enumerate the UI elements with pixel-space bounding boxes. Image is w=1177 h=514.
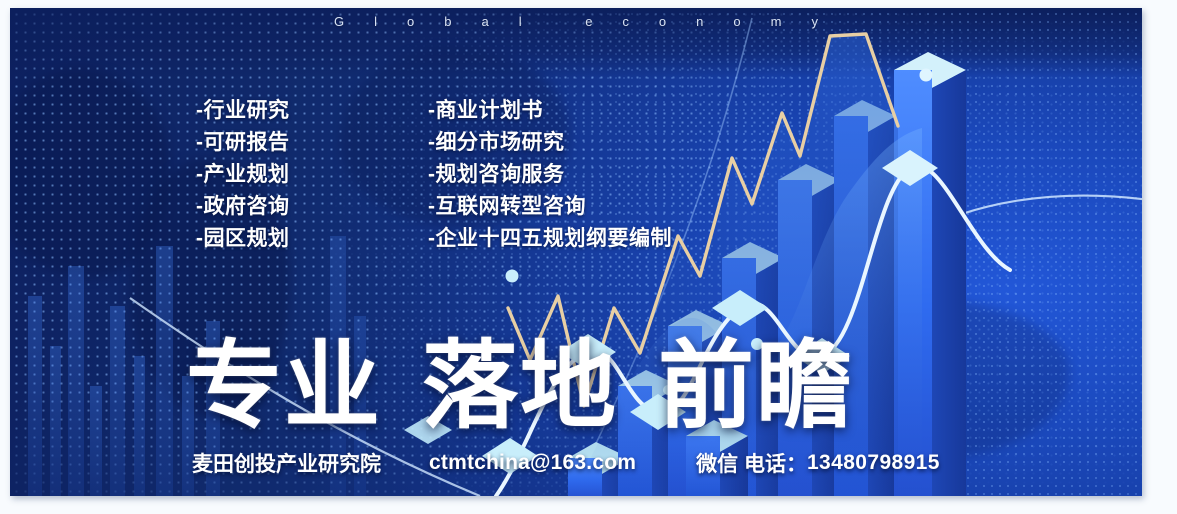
service-item: -可研报告 — [196, 128, 290, 158]
promotional-banner: Global economy -行业研究 -可研报告 -产业规划 -政府咨询 -… — [10, 8, 1142, 496]
service-item: -产业规划 — [196, 160, 290, 190]
email-address[interactable]: ctmtchina@163.com — [429, 451, 636, 475]
services-list-left: -行业研究 -可研报告 -产业规划 -政府咨询 -园区规划 — [196, 96, 290, 254]
service-item: -园区规划 — [196, 224, 290, 254]
contact-label: 微信 电话： — [696, 448, 807, 478]
headline-word-2: 落地 — [422, 308, 618, 447]
banner-stage: Global economy -行业研究 -可研报告 -产业规划 -政府咨询 -… — [0, 0, 1177, 514]
line-node-dot — [506, 270, 519, 283]
line-node-dot — [920, 69, 933, 82]
service-item: -企业十四五规划纲要编制 — [428, 224, 672, 254]
kerned-title: Global economy — [10, 14, 1142, 29]
phone-number[interactable]: 13480798915 — [807, 451, 940, 475]
headline-word-1: 专业 — [186, 308, 382, 447]
headline-slogan: 专业 落地 前瞻 — [186, 308, 854, 447]
service-item: -互联网转型咨询 — [428, 192, 672, 222]
headline-word-3: 前瞻 — [658, 308, 854, 447]
organization-name: 麦田创投产业研究院 — [192, 448, 381, 478]
service-item: -政府咨询 — [196, 192, 290, 222]
services-list-right: -商业计划书 -细分市场研究 -规划咨询服务 -互联网转型咨询 -企业十四五规划… — [428, 96, 672, 254]
service-item: -细分市场研究 — [428, 128, 672, 158]
service-item: -规划咨询服务 — [428, 160, 672, 190]
footer-contact-bar: 麦田创投产业研究院 ctmtchina@163.com 微信 电话： 13480… — [192, 448, 940, 478]
service-item: -行业研究 — [196, 96, 290, 126]
service-item: -商业计划书 — [428, 96, 672, 126]
